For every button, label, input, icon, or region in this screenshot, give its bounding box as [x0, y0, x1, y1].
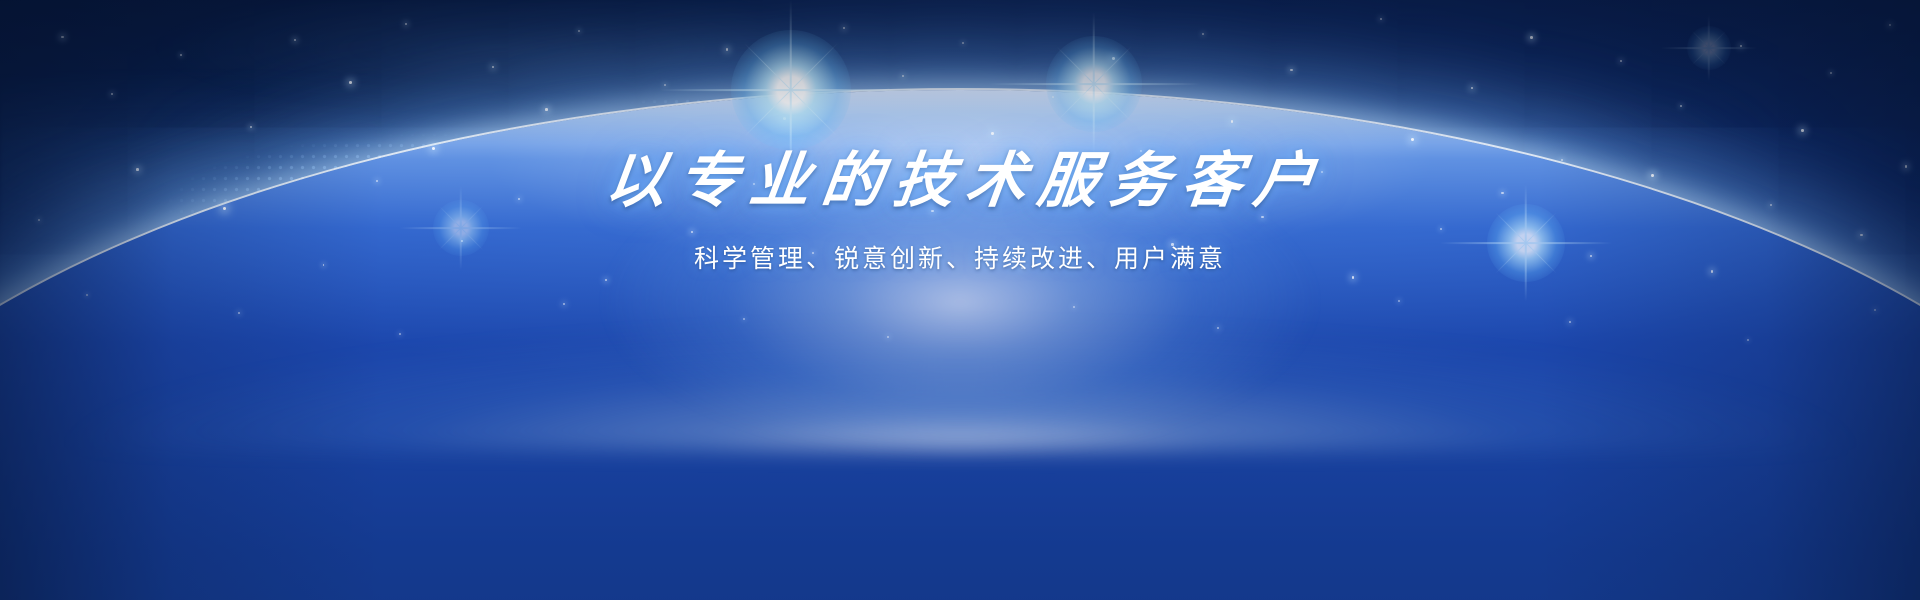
banner-text-block: 以专业的技术服务客户 科学管理、锐意创新、持续改进、用户满意	[0, 150, 1920, 275]
hero-banner: 以专业的技术服务客户 科学管理、锐意创新、持续改进、用户满意	[0, 0, 1920, 600]
banner-headline: 以专业的技术服务客户	[0, 150, 1920, 213]
banner-subheadline: 科学管理、锐意创新、持续改进、用户满意	[0, 239, 1920, 275]
